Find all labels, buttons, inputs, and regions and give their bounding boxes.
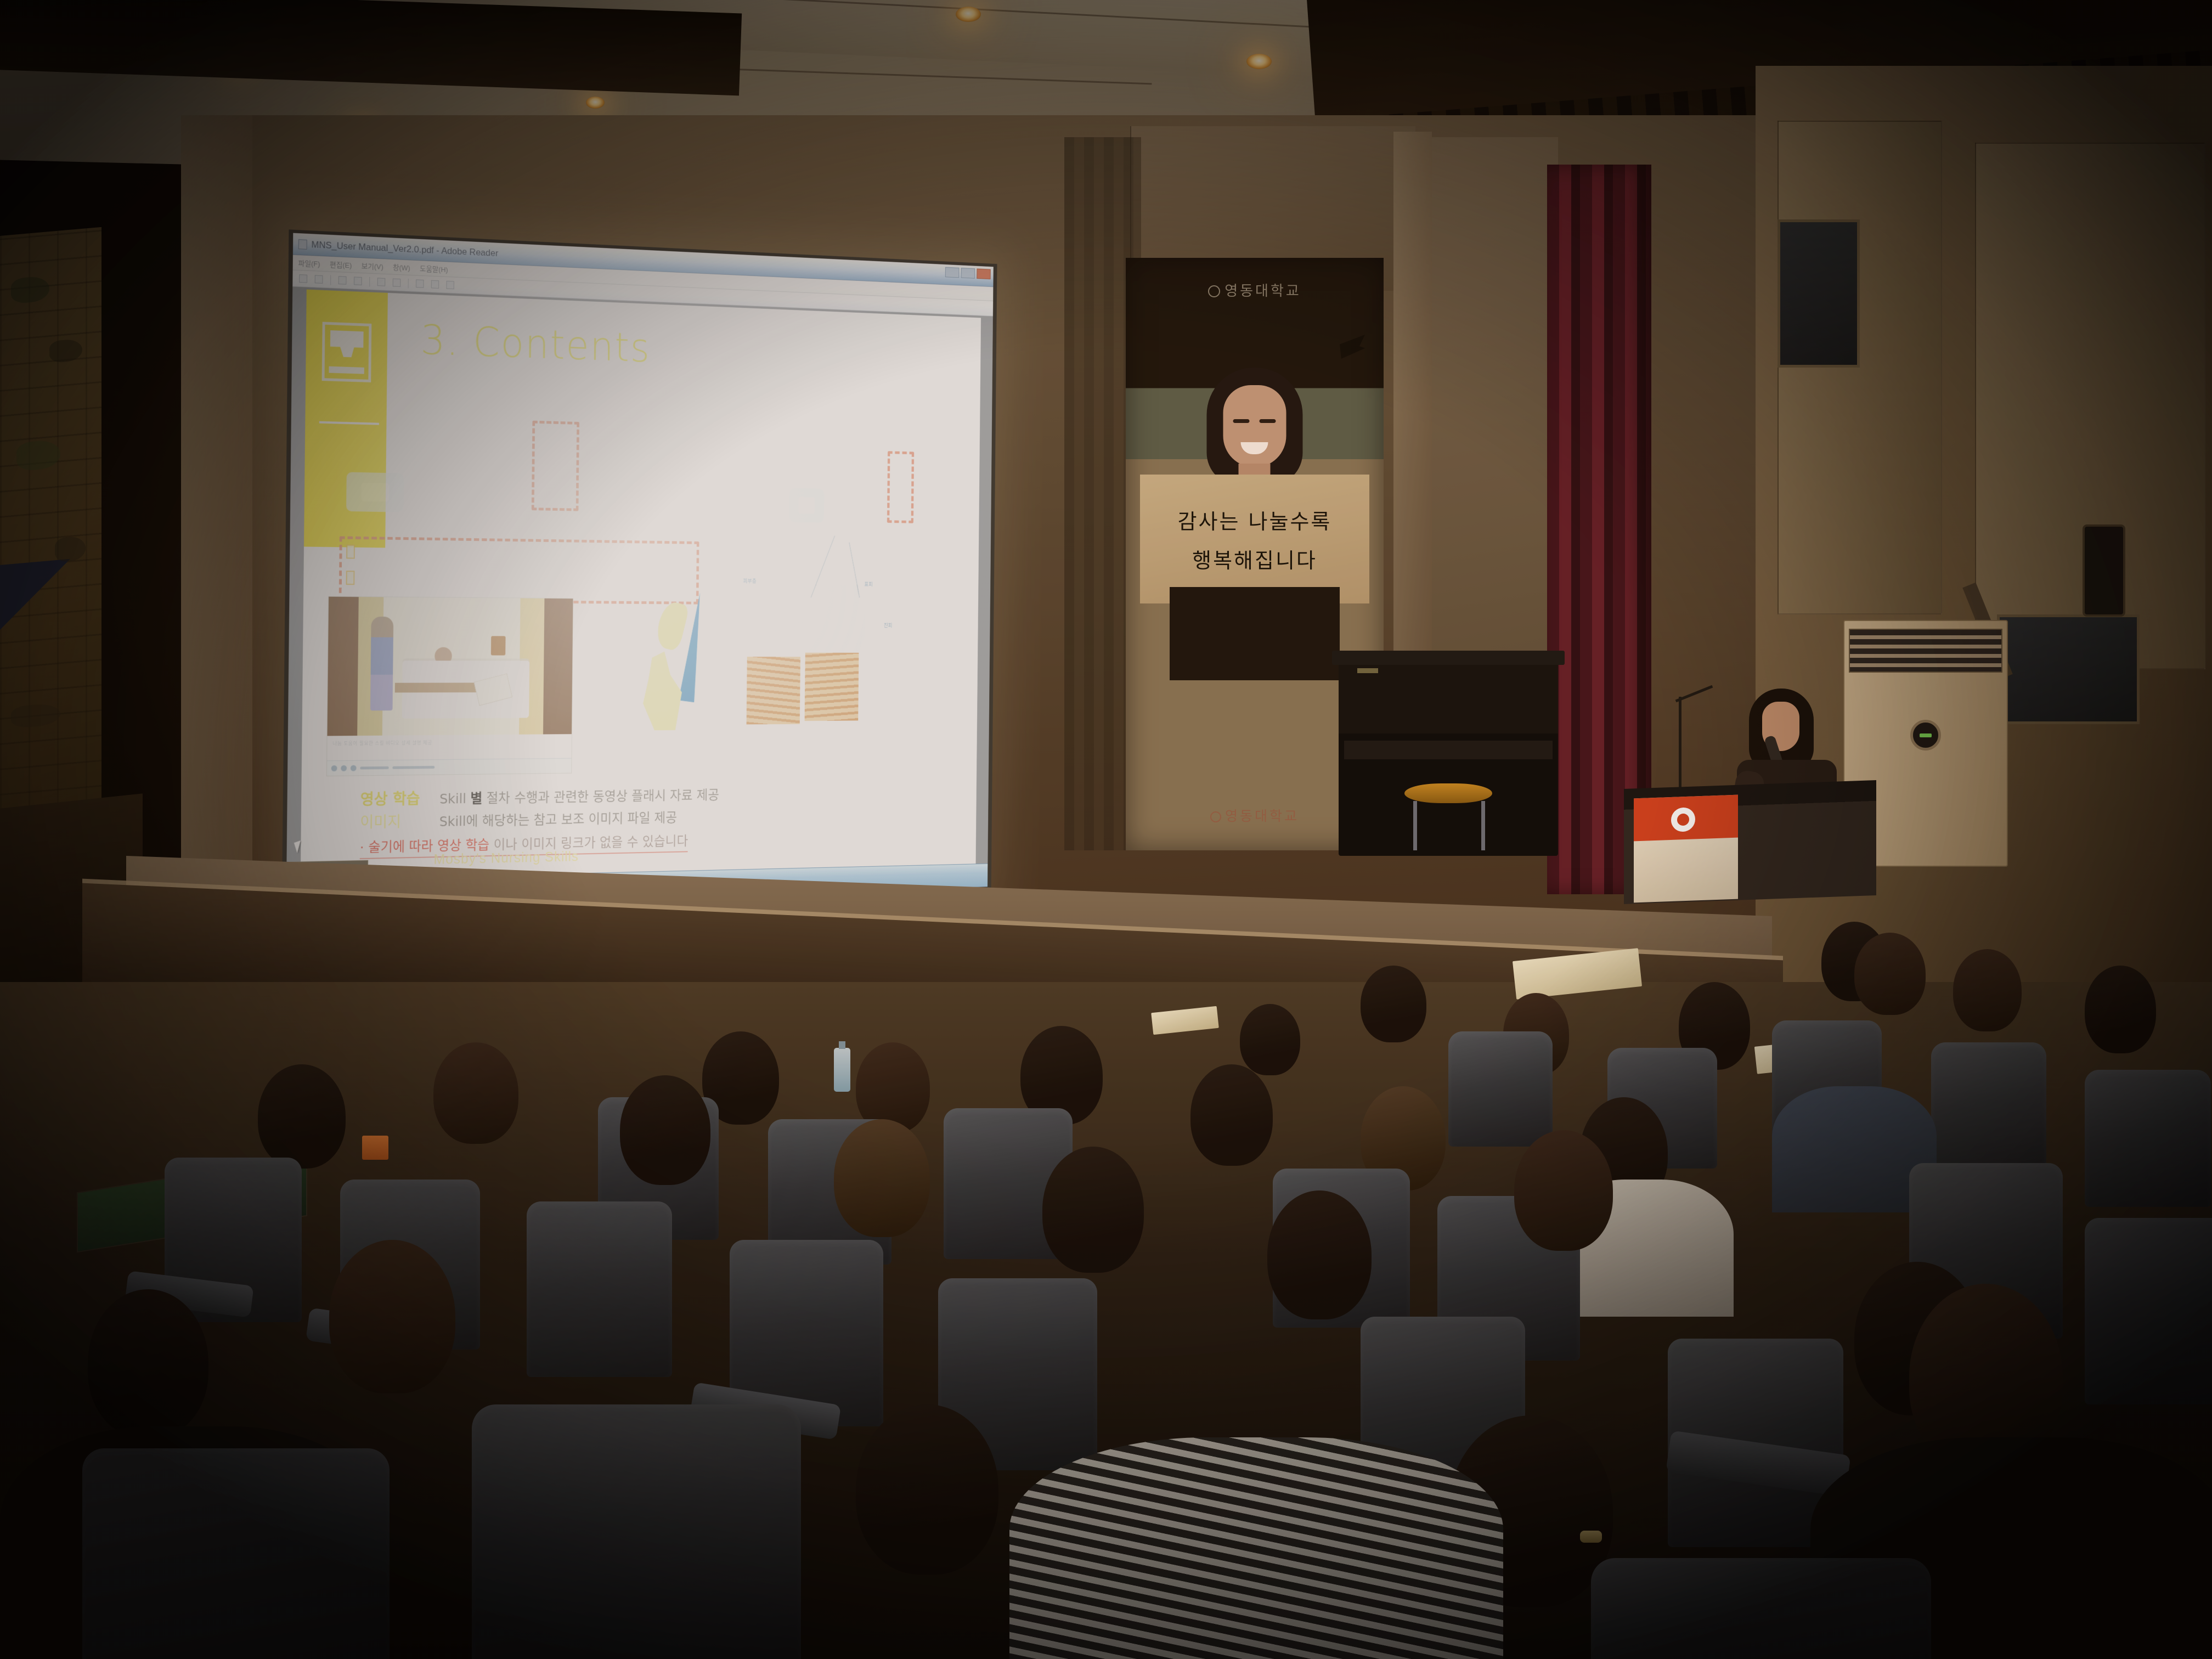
zoom-out-icon[interactable] xyxy=(377,278,386,286)
video-controls[interactable] xyxy=(327,758,572,776)
banner-held-sign: 감사는 나눌수록 행복해집니다 xyxy=(1140,475,1369,603)
slide-video-player[interactable]: 나눔 도움이 필요한 스킬 비디오 상세 설명 제공 xyxy=(326,596,574,776)
skin-layer-sketch xyxy=(744,584,865,657)
close-icon[interactable] xyxy=(977,268,990,279)
banner-person-torso xyxy=(1170,587,1340,680)
menu-window[interactable]: 창(W) xyxy=(393,262,410,273)
volume-bar[interactable] xyxy=(392,766,435,769)
auditorium-photo-scene: 영동! 영동대학교 감사는 나눌수록 xyxy=(0,0,2212,1659)
audience-head-foreground xyxy=(856,1404,998,1575)
tissue-cross-section-right xyxy=(805,653,859,721)
theater-seat xyxy=(2085,1218,2212,1404)
piano-brand-badge xyxy=(1357,668,1378,673)
anatomy-bone-lower xyxy=(643,651,682,730)
microphone-stand xyxy=(1679,697,1681,795)
audience-head xyxy=(620,1075,710,1185)
audience-head xyxy=(433,1042,518,1144)
slide-title: 3. Contents xyxy=(420,317,651,371)
slide-soft-button-right xyxy=(789,488,825,522)
university-seal-icon xyxy=(1210,811,1221,822)
annotation-box-top-right xyxy=(887,451,914,523)
audience-head xyxy=(1267,1190,1372,1319)
maximize-icon[interactable] xyxy=(961,268,975,279)
theater-seat-foreground xyxy=(82,1448,390,1659)
heater-indicator xyxy=(1910,720,1941,751)
wall-speaker xyxy=(2085,527,2123,614)
theater-seat-foreground xyxy=(472,1404,801,1659)
anatomy-label: 진피 xyxy=(884,621,893,629)
right-wall-recess xyxy=(1778,219,1860,368)
menu-view[interactable]: 보기(V) xyxy=(362,260,383,272)
audience-head xyxy=(258,1064,346,1169)
play-icon[interactable] xyxy=(331,765,337,771)
ceiling-downlight xyxy=(956,7,981,22)
menu-help[interactable]: 도움말(H) xyxy=(420,263,448,274)
audience-head xyxy=(834,1119,930,1237)
banner-top-logo: 영동대학교 xyxy=(1126,280,1384,300)
audience-head xyxy=(1190,1064,1273,1166)
slide-footer: Mosby's Nursing Skills xyxy=(433,848,579,868)
audience-head xyxy=(2085,966,2156,1053)
audience-head xyxy=(1514,1130,1613,1251)
mural-blob xyxy=(16,439,60,471)
tissue-cross-section-left xyxy=(747,657,800,724)
nursing-skill-video-frame xyxy=(328,597,573,736)
audience-head xyxy=(1953,949,2022,1031)
mural-triangle xyxy=(0,559,70,630)
banner-sign-line1: 감사는 나눌수록 xyxy=(1178,505,1332,535)
slide-logo-rule xyxy=(319,421,379,425)
water-bottle xyxy=(834,1048,850,1092)
window-controls[interactable] xyxy=(945,267,991,279)
right-wall-panel xyxy=(1778,121,1942,614)
pdf-document-pane[interactable]: 3. Contents · · · · · · xyxy=(286,287,993,880)
slide-logo-icon xyxy=(322,322,372,382)
slide-body-text: 영상 학습Skill 별 절차 수행과 관련한 동영상 플래시 자료 제공 이미… xyxy=(360,778,968,859)
page-nav-icon[interactable] xyxy=(416,279,424,287)
audience-head xyxy=(1240,1004,1300,1075)
heater-grille xyxy=(1849,629,2002,673)
banner-sign-line2: 행복해집니다 xyxy=(1192,544,1317,574)
right-wall-window xyxy=(1997,614,2140,724)
window-title: MNS_User Manual_Ver2.0.pdf - Adobe Reade… xyxy=(311,239,498,259)
mural-blob xyxy=(55,535,86,562)
theater-seat xyxy=(527,1201,672,1377)
piano-bench xyxy=(1404,783,1492,803)
upright-piano xyxy=(1339,658,1558,856)
email-icon[interactable] xyxy=(354,276,362,285)
mural-blob xyxy=(11,702,60,729)
slide-keyword-2: 이미지 xyxy=(360,810,439,833)
annotation-box-top-center xyxy=(532,421,579,511)
annotation-box-row xyxy=(339,536,699,604)
audience-head xyxy=(1854,933,1926,1015)
seek-bar[interactable] xyxy=(360,766,388,770)
slide-keyword-1: 영상 학습 xyxy=(360,787,440,810)
print-icon[interactable] xyxy=(315,275,323,284)
anatomy-bone-upper xyxy=(653,600,690,652)
anatomy-label: 표피 xyxy=(864,580,873,588)
pdf-document-icon xyxy=(298,239,307,250)
anatomy-label: 피부층 xyxy=(743,577,757,584)
menu-file[interactable]: 파일(F) xyxy=(298,257,320,269)
theater-seat xyxy=(1448,1031,1553,1147)
menu-edit[interactable]: 편집(E) xyxy=(330,259,352,270)
open-file-icon[interactable] xyxy=(299,274,307,283)
university-seal-icon xyxy=(1208,285,1220,297)
theater-seat xyxy=(2085,1070,2211,1207)
wall-pillar xyxy=(181,115,252,971)
hand-tool-icon[interactable] xyxy=(446,281,454,289)
screen-surface: MNS_User Manual_Ver2.0.pdf - Adobe Reade… xyxy=(286,233,994,905)
select-tool-icon[interactable] xyxy=(431,280,439,289)
theater-seat-foreground xyxy=(1591,1558,1931,1659)
slide-soft-button-left xyxy=(346,472,404,512)
banner-graphic-mark xyxy=(1340,335,1365,359)
video-caption: 나눔 도움이 필요한 스킬 비디오 상세 설명 제공 xyxy=(332,739,432,747)
stop-icon[interactable] xyxy=(351,765,357,771)
audience-head-foreground xyxy=(88,1289,208,1437)
audience-head xyxy=(1361,966,1426,1042)
minimize-icon[interactable] xyxy=(945,267,960,278)
ceiling-downlight xyxy=(1246,54,1272,69)
paper-cup xyxy=(362,1136,388,1160)
stage-curtain-right xyxy=(1547,165,1651,894)
screen-frame: MNS_User Manual_Ver2.0.pdf - Adobe Reade… xyxy=(282,229,997,915)
save-icon[interactable] xyxy=(338,276,347,285)
pdf-page: 3. Contents · · · · · · xyxy=(301,290,981,880)
mural-blob xyxy=(11,275,49,304)
mural-blob xyxy=(49,338,82,363)
pause-icon[interactable] xyxy=(341,765,347,771)
theater-seat xyxy=(1931,1042,2046,1174)
projection-screen: MNS_User Manual_Ver2.0.pdf - Adobe Reade… xyxy=(282,229,997,915)
audience-head-foreground xyxy=(329,1240,455,1393)
wristwatch xyxy=(1580,1531,1602,1543)
ceiling-downlight xyxy=(586,97,605,109)
audience-head xyxy=(1042,1147,1144,1273)
audience-shoulders-striped xyxy=(1009,1437,1503,1659)
zoom-in-icon[interactable] xyxy=(393,279,401,287)
